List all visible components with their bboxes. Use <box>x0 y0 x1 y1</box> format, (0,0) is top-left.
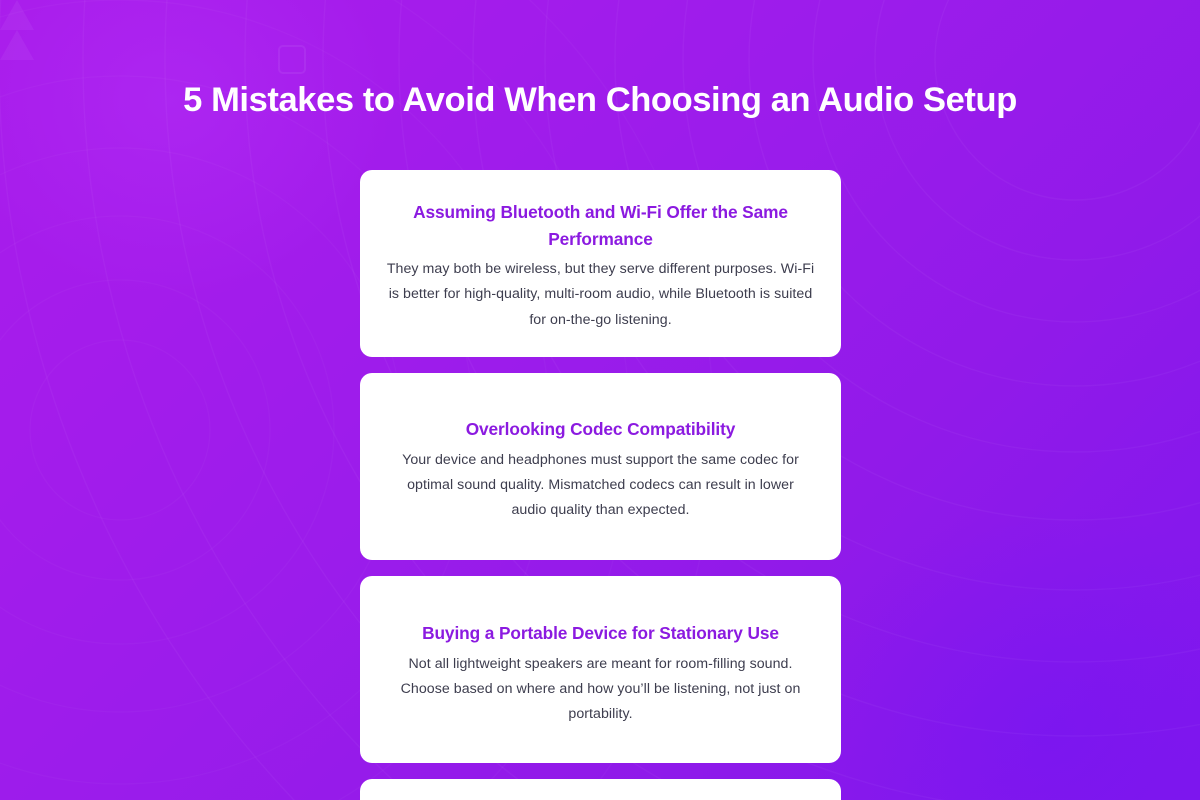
page-title: 5 Mistakes to Avoid When Choosing an Aud… <box>0 77 1200 123</box>
mistake-card-4: Ignoring Your Home Network Limitations W… <box>360 779 841 800</box>
infographic-poster: 5 Mistakes to Avoid When Choosing an Aud… <box>0 0 1200 800</box>
mistake-card-body: They may both be wireless, but they serv… <box>386 257 815 333</box>
mistake-card-title: Assuming Bluetooth and Wi-Fi Offer the S… <box>391 199 811 252</box>
mistake-card-grid: Assuming Bluetooth and Wi-Fi Offer the S… <box>112 170 1089 800</box>
mistake-card-1: Assuming Bluetooth and Wi-Fi Offer the S… <box>360 170 841 357</box>
mistake-card-title: Buying a Portable Device for Stationary … <box>422 620 779 647</box>
mistake-card-2: Overlooking Codec Compatibility Your dev… <box>360 373 841 560</box>
mistake-card-3: Buying a Portable Device for Stationary … <box>360 576 841 763</box>
poster-content: 5 Mistakes to Avoid When Choosing an Aud… <box>0 0 1200 800</box>
mistake-card-body: Your device and headphones must support … <box>388 448 813 524</box>
mistake-card-body: Not all lightweight speakers are meant f… <box>392 652 810 728</box>
mistake-card-title: Overlooking Codec Compatibility <box>466 416 736 443</box>
